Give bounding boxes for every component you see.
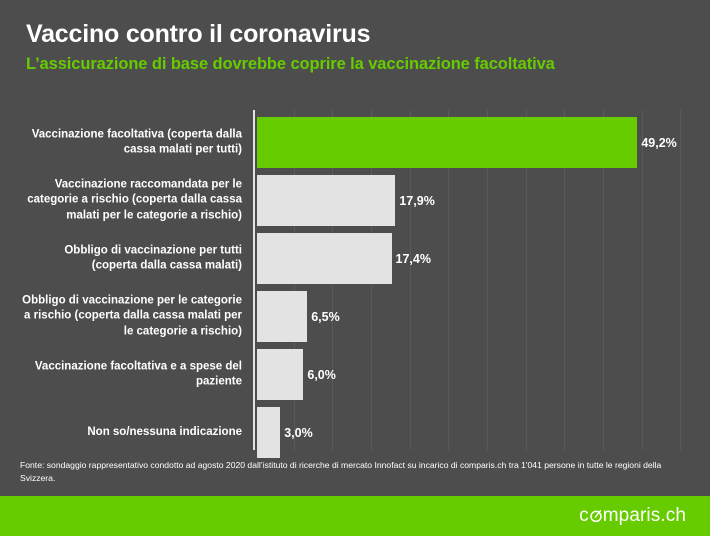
chart-bar-row: Obbligo di vaccinazione per tutti (coper… <box>255 233 710 284</box>
bar-category-label: Non so/nessuna indicazione <box>17 425 242 441</box>
bar[interactable]: 6,5% <box>257 291 307 342</box>
infographic-root: Vaccino contro il coronavirus L’assicura… <box>0 0 710 536</box>
chart-bar-row: Obbligo di vaccinazione per le categorie… <box>255 291 710 342</box>
bar[interactable]: 17,9% <box>257 175 395 226</box>
bar-value-label: 49,2% <box>641 136 676 150</box>
chart-plot-area: Vaccinazione facoltativa (coperta dalla … <box>255 110 710 450</box>
chart-bar-row: Vaccinazione facoltativa e a spese del p… <box>255 349 710 400</box>
page-subtitle: L’assicurazione di base dovrebbe coprire… <box>26 55 686 75</box>
bar[interactable]: 49,2% <box>257 117 637 168</box>
brand-text-before: c <box>579 505 589 527</box>
comparis-logo[interactable]: c mparis.ch <box>579 505 686 527</box>
chart-bar-row: Vaccinazione facoltativa (coperta dalla … <box>255 117 710 168</box>
bar[interactable]: 3,0% <box>257 407 280 458</box>
bar-value-label: 3,0% <box>284 426 313 440</box>
bar-category-label: Vaccinazione raccomandata per le categor… <box>17 177 242 224</box>
gauge-o-icon <box>589 509 603 523</box>
bar-value-label: 6,0% <box>307 368 336 382</box>
bar-category-label: Vaccinazione facoltativa e a spese del p… <box>17 359 242 390</box>
bar[interactable]: 6,0% <box>257 349 303 400</box>
brand-bar: c mparis.ch <box>0 496 710 536</box>
bar-category-label: Obbligo di vaccinazione per tutti (coper… <box>17 243 242 274</box>
chart-bar-row: Non so/nessuna indicazione3,0% <box>255 407 710 458</box>
bar-value-label: 17,4% <box>396 252 431 266</box>
bar-value-label: 17,9% <box>399 194 434 208</box>
bar[interactable]: 17,4% <box>257 233 392 284</box>
bar-value-label: 6,5% <box>311 310 340 324</box>
chart-bar-row: Vaccinazione raccomandata per le categor… <box>255 175 710 226</box>
bar-chart: Vaccinazione facoltativa (coperta dalla … <box>0 110 710 450</box>
header: Vaccino contro il coronavirus L’assicura… <box>26 20 686 75</box>
brand-text-after: mparis.ch <box>603 505 686 527</box>
source-note: Fonte: sondaggio rappresentativo condott… <box>20 459 696 486</box>
page-title: Vaccino contro il coronavirus <box>26 20 686 49</box>
bar-category-label: Vaccinazione facoltativa (coperta dalla … <box>17 127 242 158</box>
bar-category-label: Obbligo di vaccinazione per le categorie… <box>17 293 242 340</box>
